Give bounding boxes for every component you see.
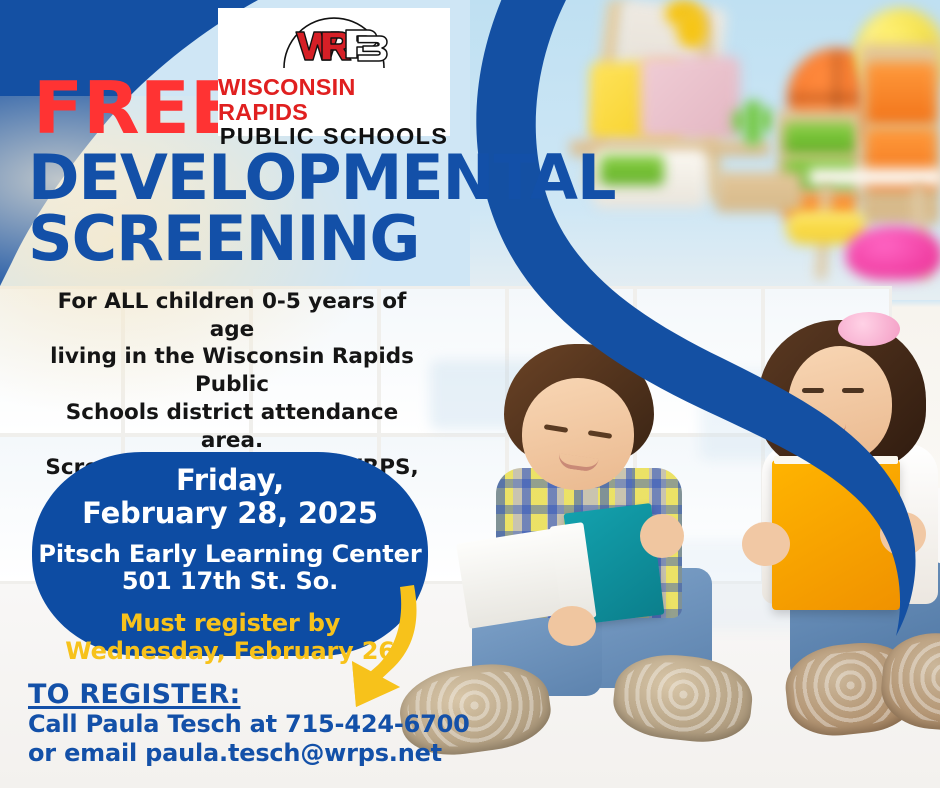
headline-line-2: SCREENING xyxy=(28,209,616,270)
girl-hand-right xyxy=(880,512,926,556)
step-block-icon xyxy=(716,172,802,212)
child-girl-holding-book xyxy=(730,326,940,766)
event-full-date: February 28, 2025 xyxy=(82,497,378,530)
bin-green-icon xyxy=(784,122,856,154)
boy-face xyxy=(522,378,634,490)
description-line-1: For ALL children 0-5 years of age xyxy=(32,288,432,343)
girl-hair-bow-icon xyxy=(838,312,900,346)
girl-eye-left xyxy=(802,388,824,393)
headline-line-1: DEVELOPMENTAL xyxy=(28,148,616,209)
girl-hand-left xyxy=(742,522,790,566)
description-line-3: Schools district attendance area. xyxy=(32,399,432,454)
girl-eye-right xyxy=(842,388,864,393)
register-email-line: or email paula.tesch@wrps.net xyxy=(28,739,470,768)
event-venue: Pitsch Early Learning Center xyxy=(38,541,421,569)
pillow-pink-icon xyxy=(640,56,740,140)
logo-district-name: WISCONSIN RAPIDS xyxy=(218,75,450,124)
bin-orange-2-icon xyxy=(866,62,936,124)
yellow-curved-arrow-icon xyxy=(316,583,446,713)
boy-hand-left xyxy=(548,606,596,646)
bulb-decor-2-icon xyxy=(677,10,707,48)
poster-canvas: WISCONSIN RAPIDS PUBLIC SCHOOLS FREE DEV… xyxy=(0,0,940,788)
register-phone-line: Call Paula Tesch at 715-424-6700 xyxy=(28,710,470,739)
cactus-arm-left-icon xyxy=(733,110,745,132)
logo-schools-label: PUBLIC SCHOOLS xyxy=(220,124,448,150)
wrps-logo-mark-icon xyxy=(278,12,390,70)
main-headline: DEVELOPMENTAL SCREENING xyxy=(28,148,616,270)
girl-face xyxy=(788,346,892,462)
event-day: Friday, xyxy=(82,464,378,497)
description-line-2: living in the Wisconsin Rapids Public xyxy=(32,343,432,398)
cactus-arm-right-icon xyxy=(760,108,772,132)
event-date: Friday, February 28, 2025 xyxy=(82,464,378,530)
child-boy-reading xyxy=(452,338,702,768)
girl-book-pages xyxy=(774,456,898,464)
pink-fluff-icon xyxy=(846,226,940,280)
free-headline: FREE xyxy=(33,72,240,144)
wrps-logo-card: WISCONSIN RAPIDS PUBLIC SCHOOLS xyxy=(218,8,450,136)
boy-hand-right xyxy=(640,514,684,558)
cactus-icon xyxy=(745,100,761,146)
